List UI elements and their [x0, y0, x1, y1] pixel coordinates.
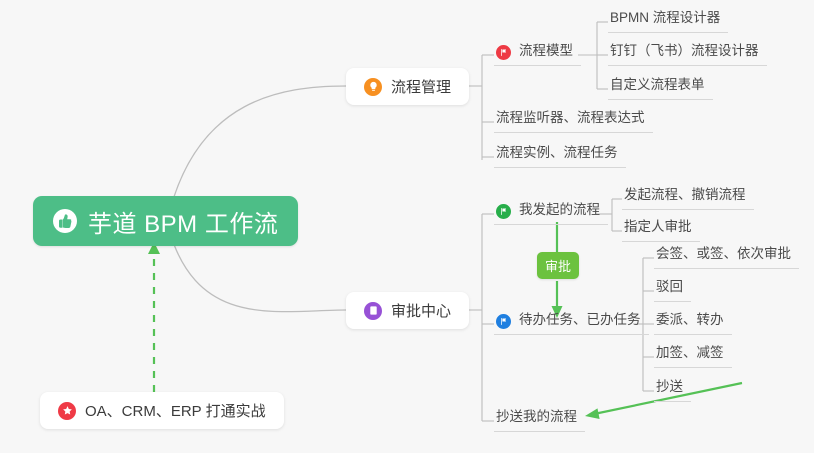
leaf-label: 抄送	[656, 378, 683, 396]
leaf-label: 加签、减签	[656, 344, 724, 362]
leaf-cc-to-me-processes[interactable]: 抄送我的流程	[494, 404, 585, 432]
branch-label: 审批中心	[391, 300, 451, 321]
root-node[interactable]: 芋道 BPM 工作流	[33, 196, 298, 246]
leaf-instance-task[interactable]: 流程实例、流程任务	[494, 140, 626, 168]
leaf-listener-expression[interactable]: 流程监听器、流程表达式	[494, 105, 653, 133]
leaf-reject[interactable]: 驳回	[654, 274, 691, 302]
leaf-label: BPMN 流程设计器	[610, 9, 720, 27]
leaf-delegate-transfer[interactable]: 委派、转办	[654, 307, 732, 335]
leaf-label: 发起流程、撤销流程	[624, 186, 746, 204]
node-process-model[interactable]: 流程模型	[494, 38, 581, 66]
leaf-custom-process-form[interactable]: 自定义流程表单	[608, 72, 713, 100]
lightbulb-icon	[364, 78, 382, 96]
leaf-label: 流程实例、流程任务	[496, 144, 618, 162]
clipboard-icon	[364, 302, 382, 320]
leaf-add-remove-sign[interactable]: 加签、减签	[654, 340, 732, 368]
leaf-label: 委派、转办	[656, 311, 724, 329]
flag-icon	[496, 314, 511, 329]
callout-node[interactable]: OA、CRM、ERP 打通实战	[40, 392, 284, 429]
star-icon	[58, 402, 76, 420]
branch-approval-center[interactable]: 审批中心	[346, 292, 469, 329]
leaf-start-cancel-process[interactable]: 发起流程、撤销流程	[622, 182, 754, 210]
leaf-label: 指定人审批	[624, 218, 692, 236]
flag-icon	[496, 45, 511, 60]
leaf-designated-approver[interactable]: 指定人审批	[622, 214, 700, 242]
leaf-label: 驳回	[656, 278, 683, 296]
leaf-label: 自定义流程表单	[610, 76, 705, 94]
node-label: 我发起的流程	[519, 201, 600, 219]
leaf-label: 钉钉（飞书）流程设计器	[610, 42, 759, 60]
thumbs-up-icon	[53, 209, 77, 233]
node-todo-done-tasks[interactable]: 待办任务、已办任务	[494, 307, 649, 335]
flag-icon	[496, 204, 511, 219]
root-label: 芋道 BPM 工作流	[88, 204, 278, 239]
annotation-tag-approval: 审批	[537, 252, 579, 279]
node-my-initiated-processes[interactable]: 我发起的流程	[494, 197, 608, 225]
leaf-dingtalk-feishu-designer[interactable]: 钉钉（飞书）流程设计器	[608, 38, 767, 66]
leaf-label: 流程监听器、流程表达式	[496, 109, 645, 127]
leaf-label: 会签、或签、依次审批	[656, 245, 791, 263]
callout-label: OA、CRM、ERP 打通实战	[85, 400, 266, 421]
mindmap-canvas: 芋道 BPM 工作流 OA、CRM、ERP 打通实战 流程管理 流程模型 BPM…	[0, 0, 814, 453]
branch-process-management[interactable]: 流程管理	[346, 68, 469, 105]
leaf-label: 抄送我的流程	[496, 408, 577, 426]
leaf-carbon-copy[interactable]: 抄送	[654, 374, 691, 402]
node-label: 待办任务、已办任务	[519, 311, 641, 329]
tag-label: 审批	[545, 256, 571, 275]
node-label: 流程模型	[519, 42, 573, 60]
branch-label: 流程管理	[391, 76, 451, 97]
leaf-bpmn-designer[interactable]: BPMN 流程设计器	[608, 5, 728, 33]
leaf-countersign-orsign-sequential[interactable]: 会签、或签、依次审批	[654, 241, 799, 269]
